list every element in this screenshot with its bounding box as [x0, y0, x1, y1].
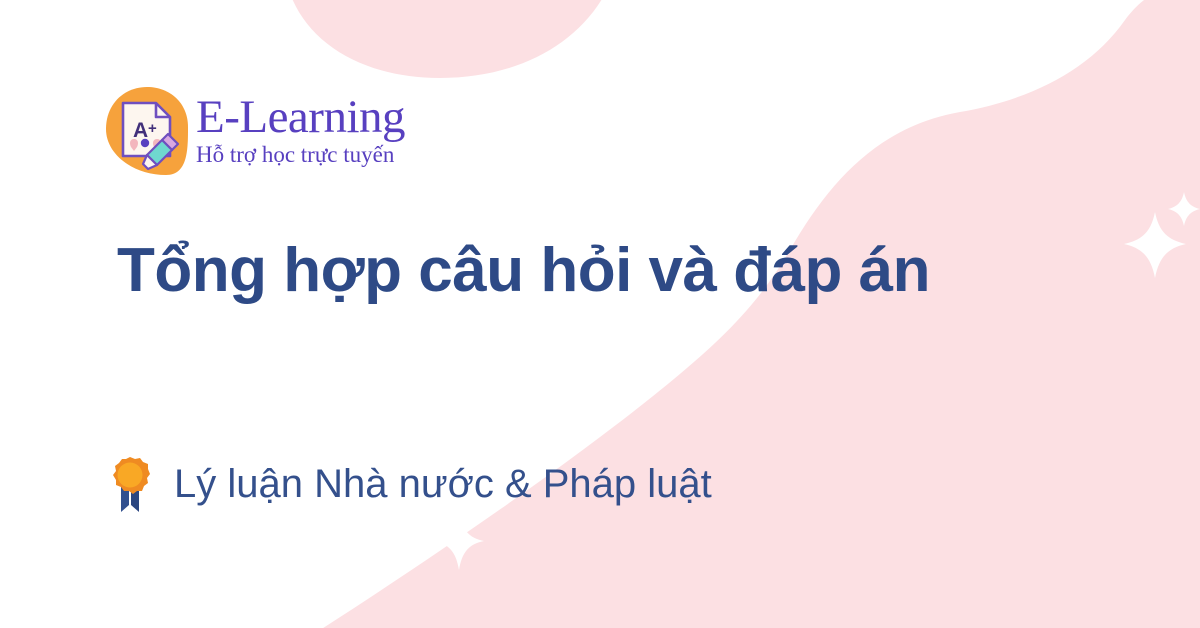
subject-row: Lý luận Nhà nước & Pháp luật	[108, 455, 712, 513]
sparkle-center-lower-icon	[434, 512, 484, 570]
logo-dot-center	[141, 139, 149, 147]
logo-grade-text: A	[133, 119, 148, 142]
banner-canvas: A + E-Learning Hỗ trợ học trực tuyến Tổn…	[0, 0, 1200, 628]
top-pink-blob	[286, 0, 612, 78]
subject-label: Lý luận Nhà nước & Pháp luật	[174, 458, 712, 510]
medal-rosette-inner	[118, 463, 143, 488]
brand-tagline: Hỗ trợ học trực tuyến	[196, 142, 405, 168]
brand-name: E-Learning	[196, 94, 405, 140]
sparkle-small-right-icon	[1168, 192, 1200, 226]
logo-grade-plus: +	[148, 120, 157, 137]
medal-rosette-icon	[108, 455, 152, 513]
page-title: Tổng hợp câu hỏi và đáp án	[117, 234, 1117, 308]
sparkle-large-right-icon	[1124, 212, 1186, 278]
logo-wordmark: E-Learning Hỗ trợ học trực tuyến	[196, 94, 405, 168]
logo-mark: A +	[104, 85, 190, 177]
site-logo[interactable]: A + E-Learning Hỗ trợ học trực tuyến	[104, 82, 474, 180]
